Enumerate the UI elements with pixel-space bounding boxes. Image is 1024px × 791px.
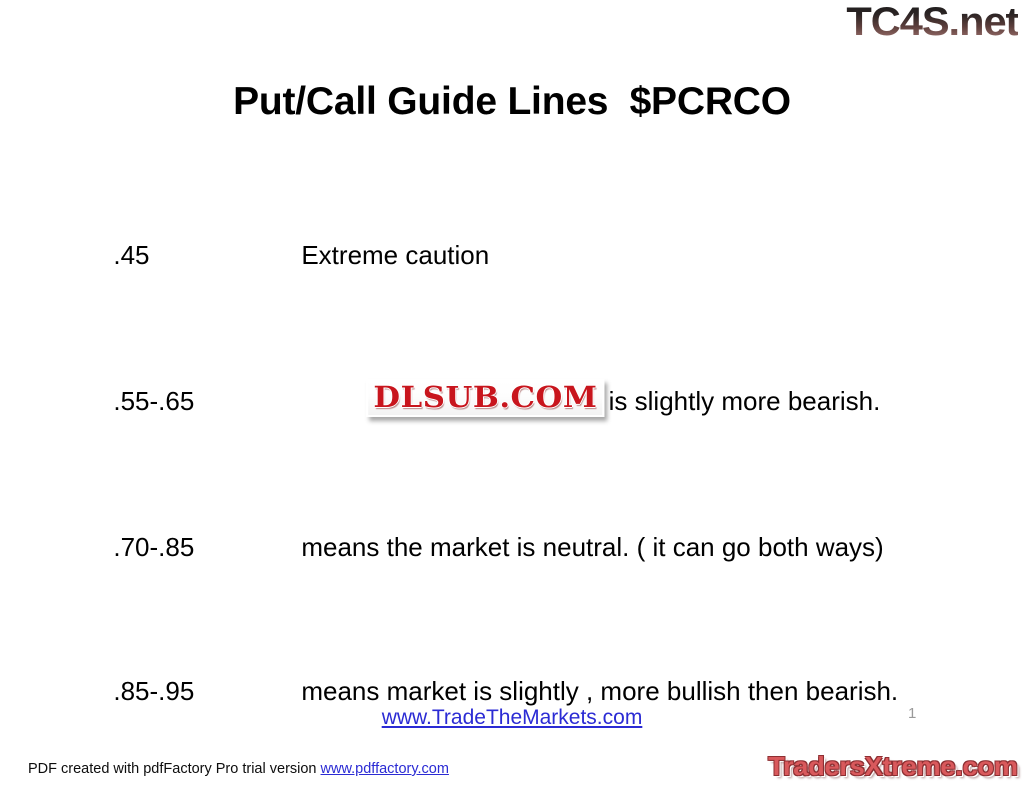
slide-canvas: TC4S.net Put/Call Guide Lines $PCRCO .45… (0, 0, 1024, 791)
tradersxtreme-brand-logo: TradersXtreme.com (768, 750, 1018, 782)
list-item: .45Extreme caution (70, 200, 970, 311)
pdf-factory-notice: PDF created with pdfFactory Pro trial ve… (28, 760, 449, 779)
pdf-notice-text: PDF created with pdfFactory Pro trial ve… (28, 761, 321, 777)
page-title: Put/Call Guide Lines $PCRCO (0, 78, 1024, 126)
dlsub-watermark-text: DLSUB.COM (373, 382, 597, 412)
row-spacer (70, 603, 970, 636)
page-number: 1 (908, 705, 916, 723)
guideline-value: .70-.85 (113, 529, 301, 566)
footer-site-link[interactable]: www.TradeTheMarkets.com (382, 706, 643, 729)
list-item: .70-.85means the market is neutral. ( it… (70, 492, 970, 603)
guideline-value: .45 (113, 237, 301, 274)
tc4s-brand-logo: TC4S.net (846, 2, 1018, 42)
guideline-list: .45Extreme caution .55-.65means the mark… (70, 200, 970, 791)
footer-site-link-wrap: www.TradeTheMarkets.com (0, 705, 1024, 731)
guideline-description: means market is slightly , more bullish … (301, 676, 898, 706)
row-spacer (70, 311, 970, 346)
row-spacer (70, 457, 970, 492)
pdf-factory-link[interactable]: www.pdffactory.com (321, 761, 449, 777)
guideline-description: Extreme caution (301, 240, 489, 270)
guideline-value: .55-.65 (113, 383, 393, 420)
dlsub-watermark: DLSUB.COM (366, 379, 605, 417)
guideline-description: means the market is neutral. ( it can go… (301, 532, 883, 562)
